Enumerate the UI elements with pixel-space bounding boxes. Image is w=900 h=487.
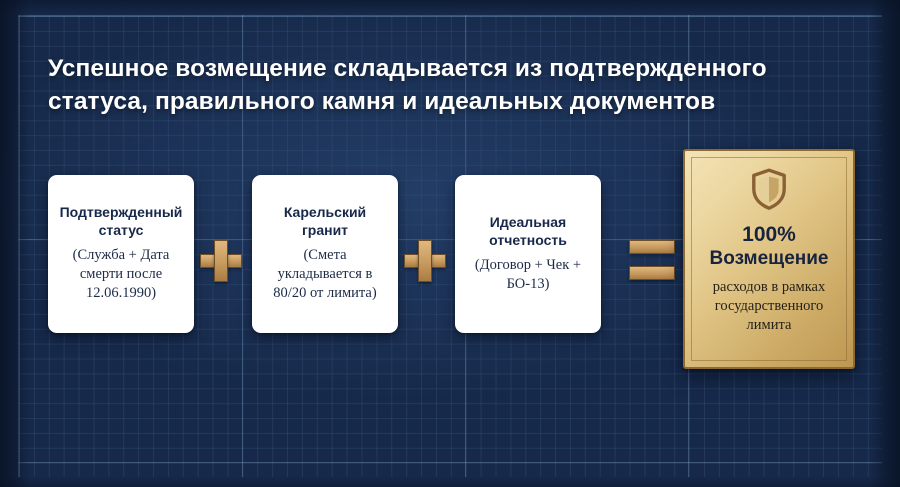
equals-operator-icon — [629, 240, 675, 282]
slide-canvas: Успешное возмещение складывается из подт… — [0, 0, 900, 487]
page-title: Успешное возмещение складывается из подт… — [48, 52, 838, 118]
condition-card-subtitle: (Служба + Дата смерти после 12.06.1990) — [56, 246, 186, 303]
condition-card-title: Карельский гранит — [260, 203, 390, 239]
equals-bar-bottom — [629, 266, 675, 280]
result-subtitle: расходов в рамках государственного лимит… — [697, 278, 841, 335]
condition-card-title: Идеальная отчетность — [463, 213, 593, 249]
plus-bar-vertical — [214, 240, 228, 282]
condition-card-subtitle: (Договор + Чек + БО-13) — [463, 256, 593, 294]
result-headline: Возмещение — [710, 247, 829, 271]
page-title-line-1: Успешное возмещение складывается из подт… — [48, 52, 838, 85]
plus-operator-icon — [404, 240, 446, 282]
condition-card-status: Подтвержденный статус (Служба + Дата сме… — [48, 175, 194, 333]
plus-operator-icon — [200, 240, 242, 282]
shield-icon — [751, 168, 787, 210]
condition-card-granite: Карельский гранит (Смета укладывается в … — [252, 175, 398, 333]
result-card-reimbursement: 100% Возмещение расходов в рамках госуда… — [683, 149, 855, 369]
condition-card-reporting: Идеальная отчетность (Договор + Чек + БО… — [455, 175, 601, 333]
condition-card-subtitle: (Смета укладывается в 80/20 от лимита) — [260, 246, 390, 303]
plus-bar-vertical — [418, 240, 432, 282]
result-percent: 100% — [742, 222, 796, 247]
condition-card-title: Подтвержденный статус — [56, 203, 186, 239]
formula-row: Подтвержденный статус (Служба + Дата сме… — [0, 140, 900, 380]
equals-bar-top — [629, 240, 675, 254]
page-title-line-2: статуса, правильного камня и идеальных д… — [48, 85, 838, 118]
